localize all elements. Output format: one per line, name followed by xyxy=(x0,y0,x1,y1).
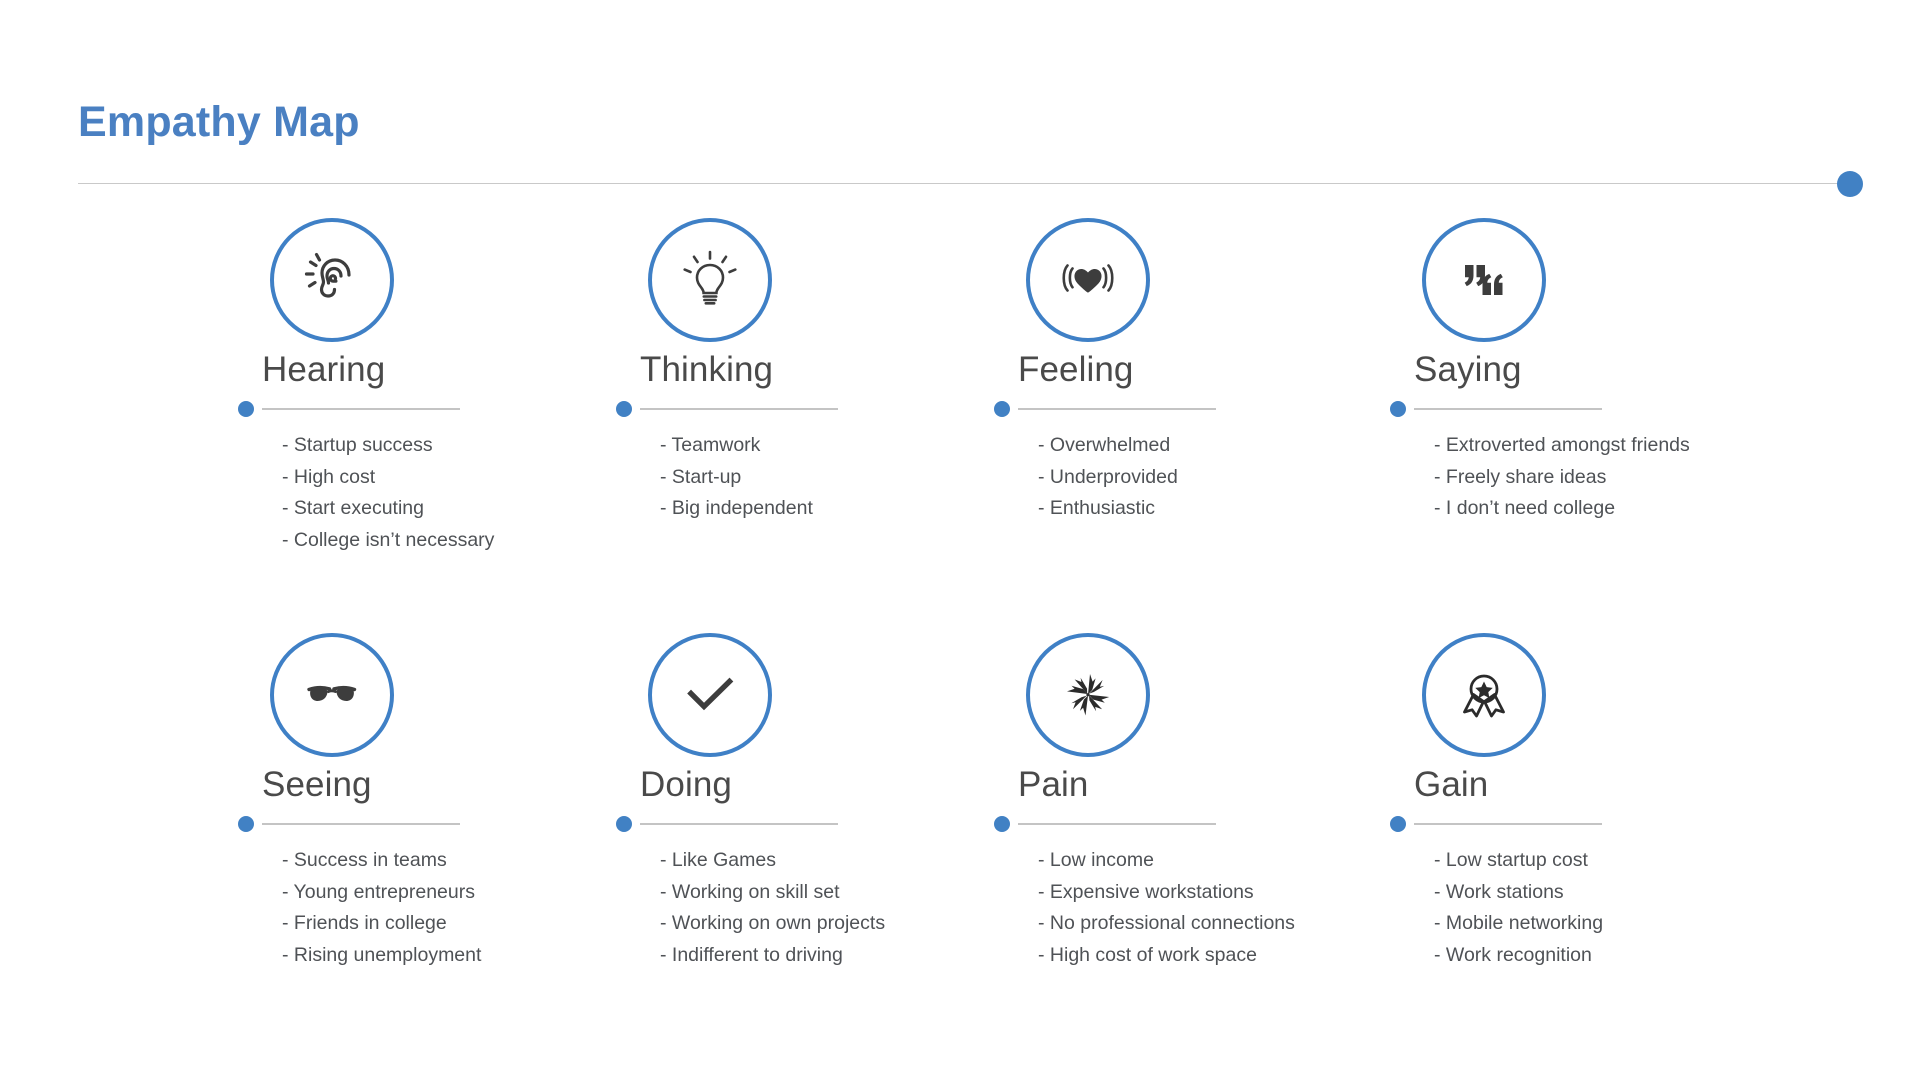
card-divider xyxy=(1018,408,1216,410)
list-item: - No professional connections xyxy=(1038,908,1408,940)
header-divider xyxy=(78,183,1850,184)
list-item: - Start-up xyxy=(660,462,1030,494)
eyeglasses-icon xyxy=(270,633,394,757)
list-item: - Working on own projects xyxy=(660,908,1030,940)
card-item-list: - Extroverted amongst friends - Freely s… xyxy=(1434,430,1804,525)
list-item: - College isn’t necessary xyxy=(282,525,652,557)
card-pain[interactable]: Pain - Low income - Expensive workstatio… xyxy=(1018,633,1408,1043)
checkmark-icon xyxy=(648,633,772,757)
list-item: - Mobile networking xyxy=(1434,908,1804,940)
card-item-list: - Low startup cost - Work stations - Mob… xyxy=(1434,845,1804,971)
lightbulb-idea-icon xyxy=(648,218,772,342)
card-divider xyxy=(262,823,460,825)
card-title: Hearing xyxy=(262,350,385,390)
card-row-top: Hearing - Startup success - High cost - … xyxy=(0,218,1920,633)
list-item: - Success in teams xyxy=(282,845,652,877)
list-item: - Rising unemployment xyxy=(282,940,652,972)
ear-listening-icon xyxy=(270,218,394,342)
card-item-list: - Startup success - High cost - Start ex… xyxy=(282,430,652,556)
card-divider-dot-icon xyxy=(238,401,254,417)
card-seeing[interactable]: Seeing - Success in teams - Young entrep… xyxy=(262,633,652,1043)
list-item: - Expensive workstations xyxy=(1038,877,1408,909)
card-row-bottom: Seeing - Success in teams - Young entrep… xyxy=(0,633,1920,1048)
card-title: Saying xyxy=(1414,350,1522,390)
empathy-card-grid: Hearing - Startup success - High cost - … xyxy=(0,218,1920,1048)
card-item-list: - Overwhelmed - Underprovided - Enthusia… xyxy=(1038,430,1408,525)
card-feeling[interactable]: Feeling - Overwhelmed - Underprovided - … xyxy=(1018,218,1408,628)
card-item-list: - Like Games - Working on skill set - Wo… xyxy=(660,845,1030,971)
list-item: - Underprovided xyxy=(1038,462,1408,494)
card-divider-dot-icon xyxy=(994,401,1010,417)
list-item: - Freely share ideas xyxy=(1434,462,1804,494)
card-divider xyxy=(1414,823,1602,825)
card-doing[interactable]: Doing - Like Games - Working on skill se… xyxy=(640,633,1030,1043)
card-divider xyxy=(640,408,838,410)
list-item: - Indifferent to driving xyxy=(660,940,1030,972)
slide-header: Empathy Map xyxy=(0,0,1920,210)
award-ribbon-star-icon xyxy=(1422,633,1546,757)
card-hearing[interactable]: Hearing - Startup success - High cost - … xyxy=(262,218,652,628)
card-divider-dot-icon xyxy=(616,401,632,417)
list-item: - Like Games xyxy=(660,845,1030,877)
card-divider-dot-icon xyxy=(238,816,254,832)
list-item: - Extroverted amongst friends xyxy=(1434,430,1804,462)
card-item-list: - Teamwork - Start-up - Big independent xyxy=(660,430,1030,525)
list-item: - Low startup cost xyxy=(1434,845,1804,877)
pain-burst-icon xyxy=(1026,633,1150,757)
card-divider xyxy=(1414,408,1602,410)
card-divider-dot-icon xyxy=(1390,401,1406,417)
list-item: - Work stations xyxy=(1434,877,1804,909)
heart-vibration-icon xyxy=(1026,218,1150,342)
card-saying[interactable]: Saying - Extroverted amongst friends - F… xyxy=(1414,218,1804,628)
card-title: Feeling xyxy=(1018,350,1134,390)
list-item: - Startup success xyxy=(282,430,652,462)
card-title: Gain xyxy=(1414,765,1488,805)
card-title: Thinking xyxy=(640,350,773,390)
empathy-map-slide: Empathy Map Hearing xyxy=(0,0,1920,1080)
list-item: - Overwhelmed xyxy=(1038,430,1408,462)
list-item: - Low income xyxy=(1038,845,1408,877)
list-item: - Start executing xyxy=(282,493,652,525)
page-title: Empathy Map xyxy=(78,98,360,147)
list-item: - Friends in college xyxy=(282,908,652,940)
list-item: - Enthusiastic xyxy=(1038,493,1408,525)
list-item: - Working on skill set xyxy=(660,877,1030,909)
list-item: - Big independent xyxy=(660,493,1030,525)
list-item: - Young entrepreneurs xyxy=(282,877,652,909)
list-item: - High cost xyxy=(282,462,652,494)
card-divider xyxy=(640,823,838,825)
card-gain[interactable]: Gain - Low startup cost - Work stations … xyxy=(1414,633,1804,1043)
card-item-list: - Low income - Expensive workstations - … xyxy=(1038,845,1408,971)
list-item: - Work recognition xyxy=(1434,940,1804,972)
card-thinking[interactable]: Thinking - Teamwork - Start-up - Big ind… xyxy=(640,218,1030,628)
quotation-marks-icon xyxy=(1422,218,1546,342)
card-divider-dot-icon xyxy=(1390,816,1406,832)
card-divider xyxy=(262,408,460,410)
header-end-dot-icon xyxy=(1837,171,1863,197)
card-title: Pain xyxy=(1018,765,1088,805)
card-divider xyxy=(1018,823,1216,825)
card-item-list: - Success in teams - Young entrepreneurs… xyxy=(282,845,652,971)
list-item: - I don’t need college xyxy=(1434,493,1804,525)
list-item: - High cost of work space xyxy=(1038,940,1408,972)
card-divider-dot-icon xyxy=(994,816,1010,832)
list-item: - Teamwork xyxy=(660,430,1030,462)
card-title: Seeing xyxy=(262,765,372,805)
card-divider-dot-icon xyxy=(616,816,632,832)
card-title: Doing xyxy=(640,765,732,805)
